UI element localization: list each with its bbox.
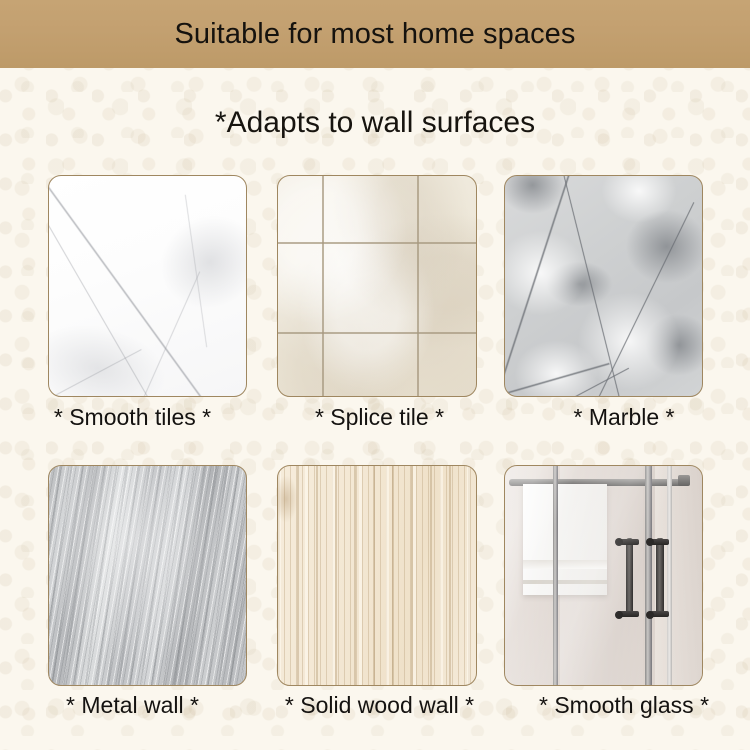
- surface-cell-splice-tile: [277, 175, 477, 397]
- surface-swatch-marble: [504, 175, 703, 397]
- surface-swatch-smooth-glass: [504, 465, 703, 686]
- surface-cell-smooth-glass: [504, 465, 703, 686]
- grout-line-icon: [417, 176, 419, 396]
- surface-label-smooth-tiles: * Smooth tiles *: [10, 404, 255, 431]
- surface-cell-solid-wood-wall: [277, 465, 477, 686]
- grout-line-icon: [278, 332, 476, 334]
- surface-label-marble: * Marble *: [500, 404, 748, 431]
- marble-light-patch-icon: [600, 175, 679, 224]
- tile-mottle-icon: [278, 176, 476, 396]
- surface-label-metal-wall: * Metal wall *: [10, 692, 255, 719]
- metal-sheen-icon: [49, 466, 246, 685]
- grout-line-icon: [322, 176, 324, 396]
- surface-label-splice-tile: * Splice tile *: [262, 404, 497, 431]
- surface-swatch-metal-wall: [48, 465, 247, 686]
- grout-line-icon: [278, 242, 476, 244]
- surface-label-smooth-glass: * Smooth glass *: [500, 692, 748, 719]
- surface-label-solid-wood-wall: * Solid wood wall *: [262, 692, 497, 719]
- surface-swatch-splice-tile: [277, 175, 477, 397]
- surface-swatch-solid-wood-wall: [277, 465, 477, 686]
- surface-cell-marble: [504, 175, 703, 397]
- surface-cell-metal-wall: [48, 465, 247, 686]
- glass-gloss-icon: [505, 466, 702, 685]
- surface-swatch-grid: * Smooth tiles * * Splice tile *: [0, 0, 750, 750]
- surface-swatch-smooth-tiles: [48, 175, 247, 397]
- surface-cell-smooth-tiles: [48, 175, 247, 397]
- marble-haze-icon: [48, 312, 174, 397]
- wood-knot-icon: [278, 475, 298, 523]
- infographic-page: Suitable for most home spaces *Adapts to…: [0, 0, 750, 750]
- wood-grain-icon: [278, 466, 476, 685]
